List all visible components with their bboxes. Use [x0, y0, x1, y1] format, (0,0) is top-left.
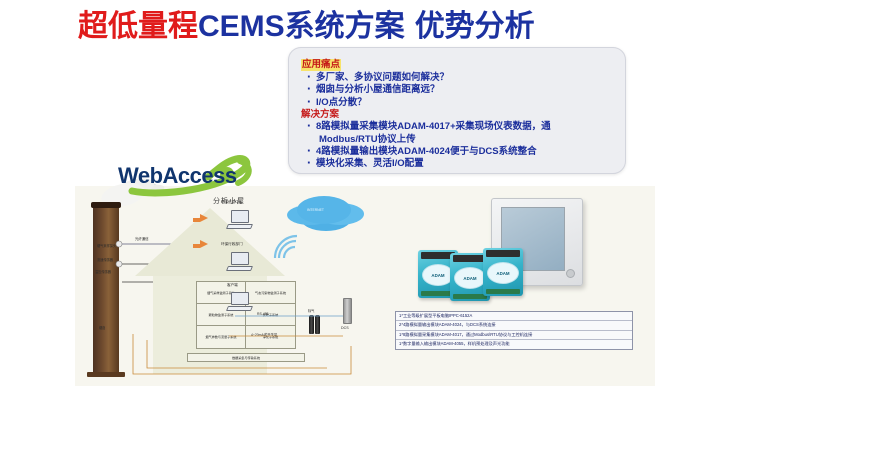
module-label: ADAM [454, 267, 486, 289]
stack-label-temp-pressure: 温压传感器 [95, 270, 111, 274]
list-item: 多厂家、多协议问题如何解决？ [305, 72, 615, 84]
table-row: 2*4路模拟量输出模块ADAM-4024，与DCS系统连接 [396, 321, 632, 330]
list-item: I/O点分散？ [305, 97, 615, 109]
workstation-label: 客户端 [227, 283, 238, 288]
workstation-icon [227, 210, 253, 232]
list-item: 8路模拟量采集模块ADAM-4017+采集现场仪表数据，通 [305, 121, 615, 133]
panel-pc-knob [566, 269, 575, 278]
logo-text: WebAccess [118, 163, 237, 189]
module-terminal-block [486, 250, 520, 257]
list-item: 模块化采集、灵活I/O配置 [305, 158, 615, 170]
title-blue-part-2: 优势分析 [415, 10, 535, 43]
callout-box: 应用痛点 多厂家、多协议问题如何解决？ 烟囱与分析小屋通信距离远？ I/O点分散… [288, 47, 626, 174]
stack-label-chimney: 烟囱 [99, 326, 105, 330]
table-row: 1*数字量输入输出模块ADAM-4055，样机预处理及声光功能 [396, 340, 632, 348]
title-red-part: 超低量程 [78, 10, 198, 43]
monitor-icon [231, 210, 249, 223]
workstation-icon [227, 252, 253, 274]
title-blue-part-1: CEMS系统方案 [198, 10, 405, 43]
smokestack-base [87, 372, 125, 377]
module-base [453, 294, 487, 299]
flow-arrow-tail [193, 244, 200, 248]
list-item: 4路模拟量输出模块ADAM-4024便于与DCS系统整合 [305, 146, 615, 158]
smokestack-top [91, 202, 121, 208]
workstation-label: 环保行政部门 [221, 242, 243, 247]
list-item: 烟囱与分析小屋通信距离远？ [305, 84, 615, 96]
hut-roof [135, 208, 285, 276]
internet-cloud-label: INTERNET [307, 208, 324, 212]
module-base [486, 289, 520, 294]
keyboard-icon [226, 266, 253, 271]
flow-arrow-icon [200, 240, 208, 248]
webaccess-logo: WebAccess [112, 155, 262, 197]
slide-canvas: 超低量程CEMS系统方案优势分析 应用痛点 多厂家、多协议问题如何解决？ 烟囱与… [0, 0, 887, 459]
wireless-signal-icon [271, 222, 311, 262]
page-title: 超低量程CEMS系统方案优势分析 [78, 10, 535, 43]
net-label-fiber: 光纤通信 [135, 236, 149, 241]
bottom-caption: 除此之外挥发性有机气体（VOCs），成为继COD，NH3-N，SO₂，NOx之后… [0, 408, 887, 459]
pain-points-list: 多厂家、多协议问题如何解决？ 烟囱与分析小屋通信距离远？ I/O点分散？ [305, 72, 615, 109]
solution-header: 解决方案 [301, 109, 615, 121]
stack-label-sampling: 烟气采样探头 [97, 244, 116, 248]
workstation-label: 环保信息中心 [221, 200, 243, 205]
keyboard-icon [226, 224, 253, 229]
solution-list: 8路模拟量采集模块ADAM-4017+采集现场仪表数据，通 Modbus/RTU… [305, 121, 615, 171]
hardware-spec-table: 1*工业等级扩展型平板电脑IPPC-6152A 2*4路模拟量输出模块ADAM-… [395, 311, 633, 350]
module-label: ADAM [487, 262, 519, 284]
flow-arrow-icon [200, 214, 208, 222]
monitor-icon [231, 252, 249, 265]
subsystem-cell: 气态污染物监测子系统 [246, 282, 295, 304]
stack-label-flow: 流速传感器 [97, 258, 113, 262]
list-item-continuation: Modbus/RTU协议上传 [305, 134, 615, 146]
table-row: 1*8路模拟量采集模块ADAM-4017，通过Modbus\RTU协议与工控机连… [396, 331, 632, 340]
table-row: 1*工业等级扩展型平板电脑IPPC-6152A [396, 312, 632, 321]
adam-module-photo: ADAM [483, 248, 523, 296]
flow-arrow-tail [193, 218, 200, 222]
internet-cloud-icon [297, 196, 351, 224]
lower-wiring [127, 330, 357, 380]
module-terminal-block [453, 255, 487, 262]
